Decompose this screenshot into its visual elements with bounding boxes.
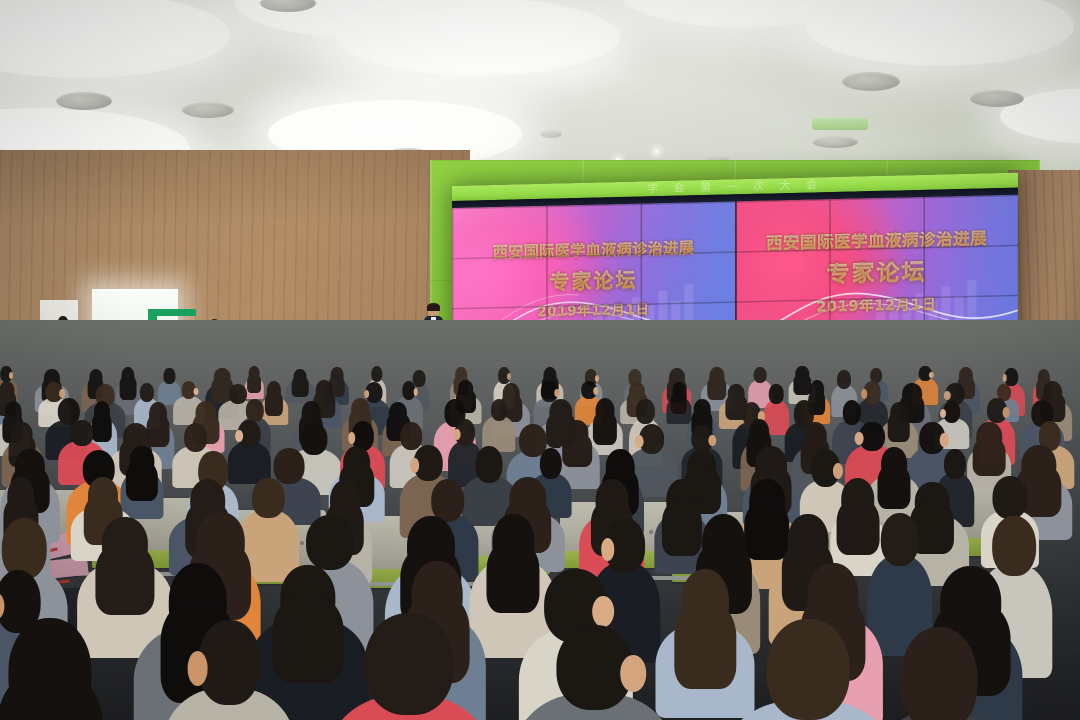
recessed-spotlight-icon — [540, 130, 562, 138]
person-head — [754, 367, 767, 384]
recessed-spotlight-icon — [812, 136, 858, 148]
person-face — [601, 538, 615, 561]
ceiling-lamp — [338, 0, 620, 76]
person-face — [194, 388, 199, 396]
ceiling-led — [950, 50, 953, 53]
person-head — [900, 627, 977, 720]
person-face — [187, 651, 208, 686]
person-face — [1002, 374, 1007, 382]
ceiling-vent — [812, 118, 868, 130]
recessed-spotlight-icon — [56, 92, 112, 110]
person-head — [245, 399, 263, 421]
person-face — [709, 435, 716, 447]
person-head — [365, 613, 454, 715]
slide-date: 2019年12月1日 — [537, 303, 649, 319]
person-head — [491, 399, 507, 421]
person-head — [767, 619, 850, 719]
person-face — [833, 463, 843, 479]
person-face — [593, 596, 615, 627]
slide-date: 2019年12月1日 — [816, 298, 936, 315]
slide-subtitle: 专家论坛 — [827, 261, 927, 286]
door-frame-icon — [148, 309, 196, 316]
person-face — [410, 458, 420, 473]
person-face — [348, 432, 356, 444]
person-face — [59, 389, 65, 397]
person-face — [940, 433, 949, 446]
person-face — [861, 389, 867, 399]
slide-title: 西安国际医学血液病诊治进展 — [766, 230, 987, 252]
person-face — [620, 655, 646, 691]
person-head — [636, 399, 654, 424]
audience-person — [868, 627, 1009, 720]
person-head — [944, 449, 966, 479]
recessed-spotlight-icon — [842, 72, 900, 91]
person-face — [413, 388, 418, 396]
person-face — [507, 373, 511, 380]
person-face — [855, 432, 864, 444]
person-face — [554, 389, 560, 398]
person-face — [364, 390, 370, 399]
audience-region — [0, 320, 1080, 720]
audience-person — [163, 620, 295, 720]
recessed-spotlight-icon — [182, 102, 234, 118]
person-face — [454, 429, 461, 440]
recessed-spotlight-icon — [970, 90, 1024, 107]
person-face — [1002, 407, 1009, 417]
person-head — [306, 515, 354, 570]
person-face — [593, 387, 598, 395]
person-face — [9, 372, 13, 379]
person-head — [139, 383, 153, 402]
conference-hall-photo: 学 会 第 一 次 大 会 — [0, 0, 1080, 720]
audience-person — [0, 618, 132, 720]
person-hair — [973, 437, 1006, 476]
person-head — [70, 420, 93, 446]
person-head — [992, 476, 1027, 519]
person-head — [769, 384, 784, 404]
slide-title: 西安国际医学血液病诊治进展 — [493, 240, 695, 260]
person-head — [837, 370, 851, 389]
person-head — [184, 423, 208, 452]
person-face — [235, 430, 243, 442]
audience-person — [513, 625, 675, 720]
person-head — [881, 513, 919, 566]
person-head — [199, 620, 260, 704]
slide-subtitle: 专家论坛 — [550, 269, 638, 291]
person-face — [635, 435, 644, 448]
person-face — [929, 372, 933, 378]
person-head — [539, 448, 561, 479]
audience-person — [328, 613, 490, 720]
ceiling-led — [655, 150, 658, 153]
person-hair — [671, 391, 687, 414]
